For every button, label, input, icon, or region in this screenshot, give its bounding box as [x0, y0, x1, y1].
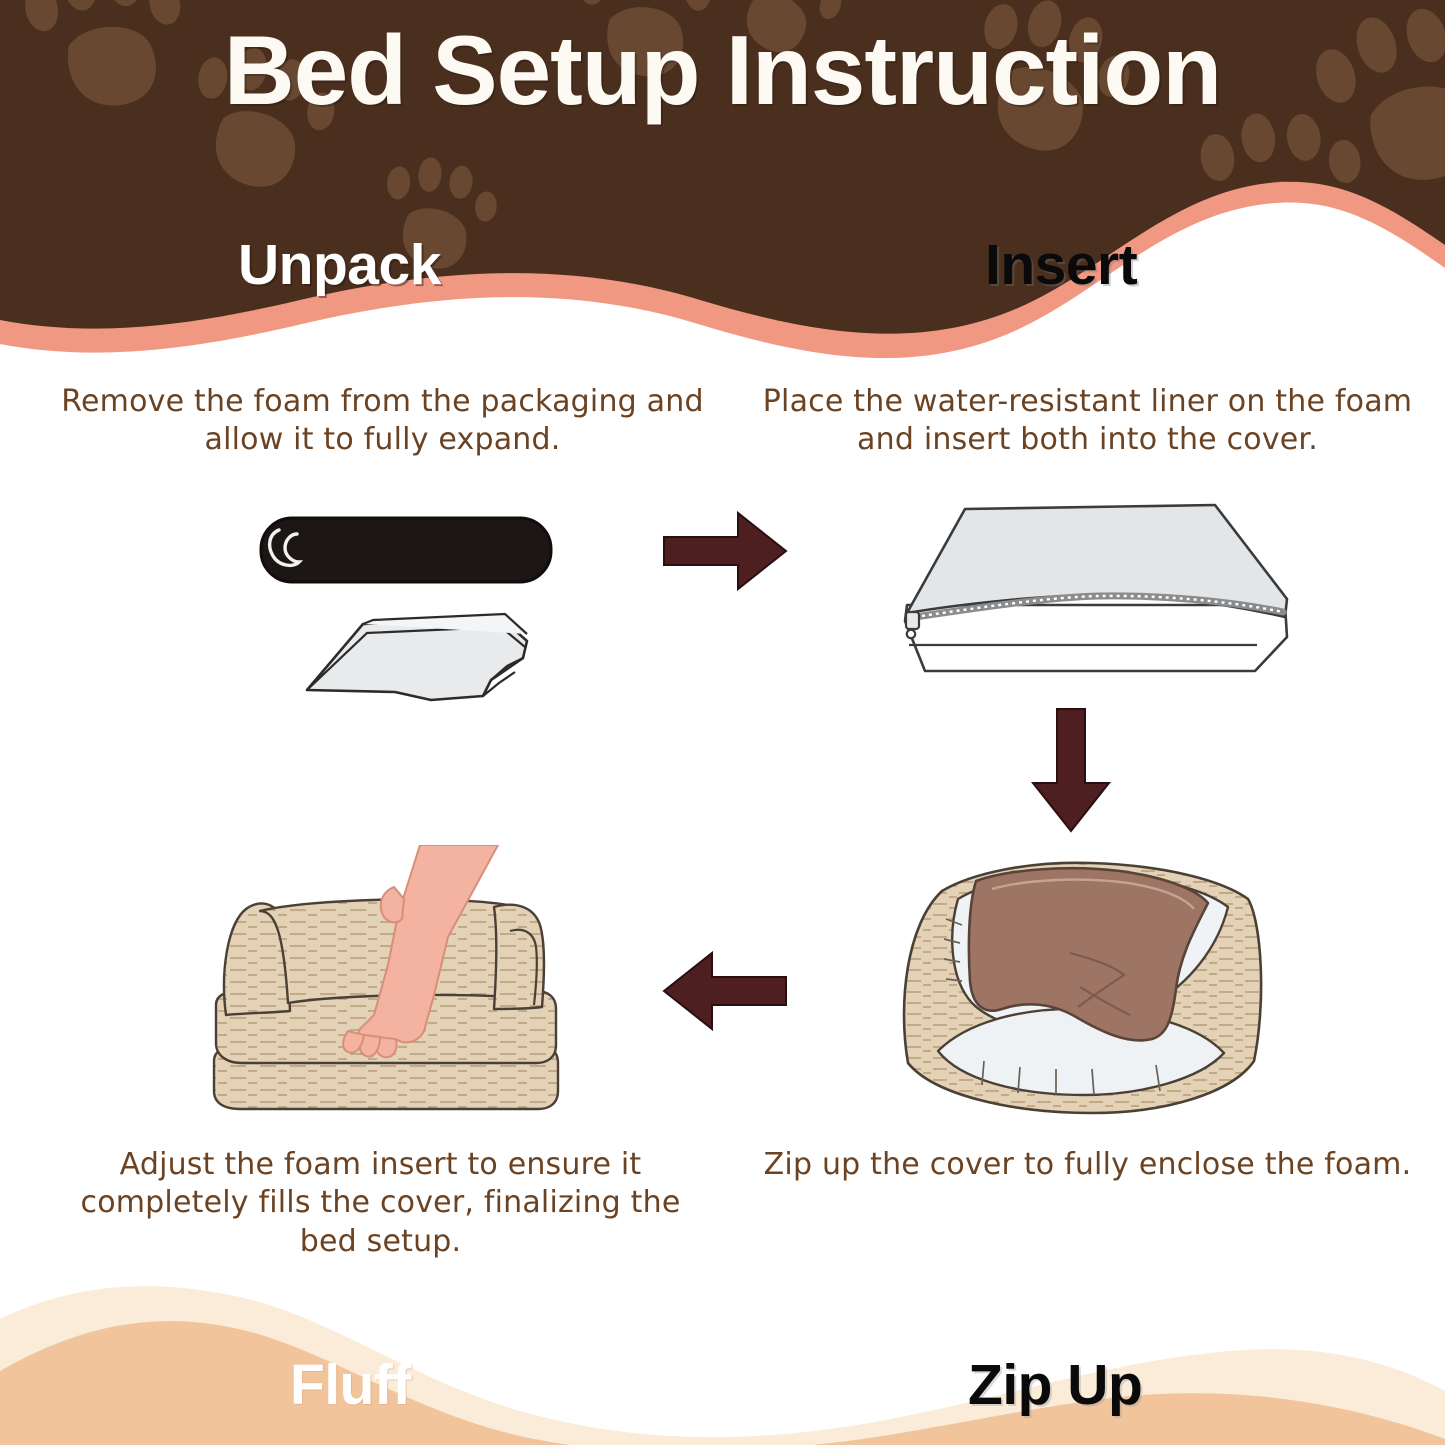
bed-setup-instruction-infographic: Bed Setup Instruction Unpack Insert Remo…: [0, 0, 1445, 1445]
hand-pressing-bed-illustration: [198, 845, 618, 1135]
header-band: [0, 0, 1445, 360]
footer-band: [0, 1275, 1445, 1445]
rolled-foam-and-liner-illustration: [255, 500, 575, 715]
folded-liner-icon: [307, 614, 527, 700]
bed-bolster-right-icon: [494, 905, 544, 1009]
caption-zipup: Zip up the cover to fully enclose the fo…: [760, 1146, 1415, 1184]
step-label-unpack: Unpack: [238, 232, 441, 298]
arrow-insert-to-zipup: [1025, 705, 1117, 835]
step-label-zipup: Zip Up: [968, 1352, 1142, 1418]
caption-fluff: Adjust the foam insert to ensure it comp…: [48, 1146, 713, 1261]
rolled-foam-icon: [261, 518, 551, 582]
zippered-cushion-illustration: [885, 495, 1305, 680]
header-background: [0, 0, 1445, 360]
open-bed-cover-with-foam-illustration: [880, 855, 1280, 1130]
header-shape-svg: [0, 0, 1445, 360]
caption-insert: Place the water-resistant liner on the f…: [760, 383, 1415, 460]
arrow-zipup-to-fluff: [660, 945, 790, 1037]
footer-shape-svg: [0, 1275, 1445, 1445]
step-label-fluff: Fluff: [290, 1352, 411, 1418]
caption-unpack: Remove the foam from the packaging and a…: [55, 383, 710, 460]
cushion-base-icon: [905, 605, 1287, 671]
step-label-insert: Insert: [985, 232, 1137, 298]
arrow-unpack-to-insert: [660, 505, 790, 597]
